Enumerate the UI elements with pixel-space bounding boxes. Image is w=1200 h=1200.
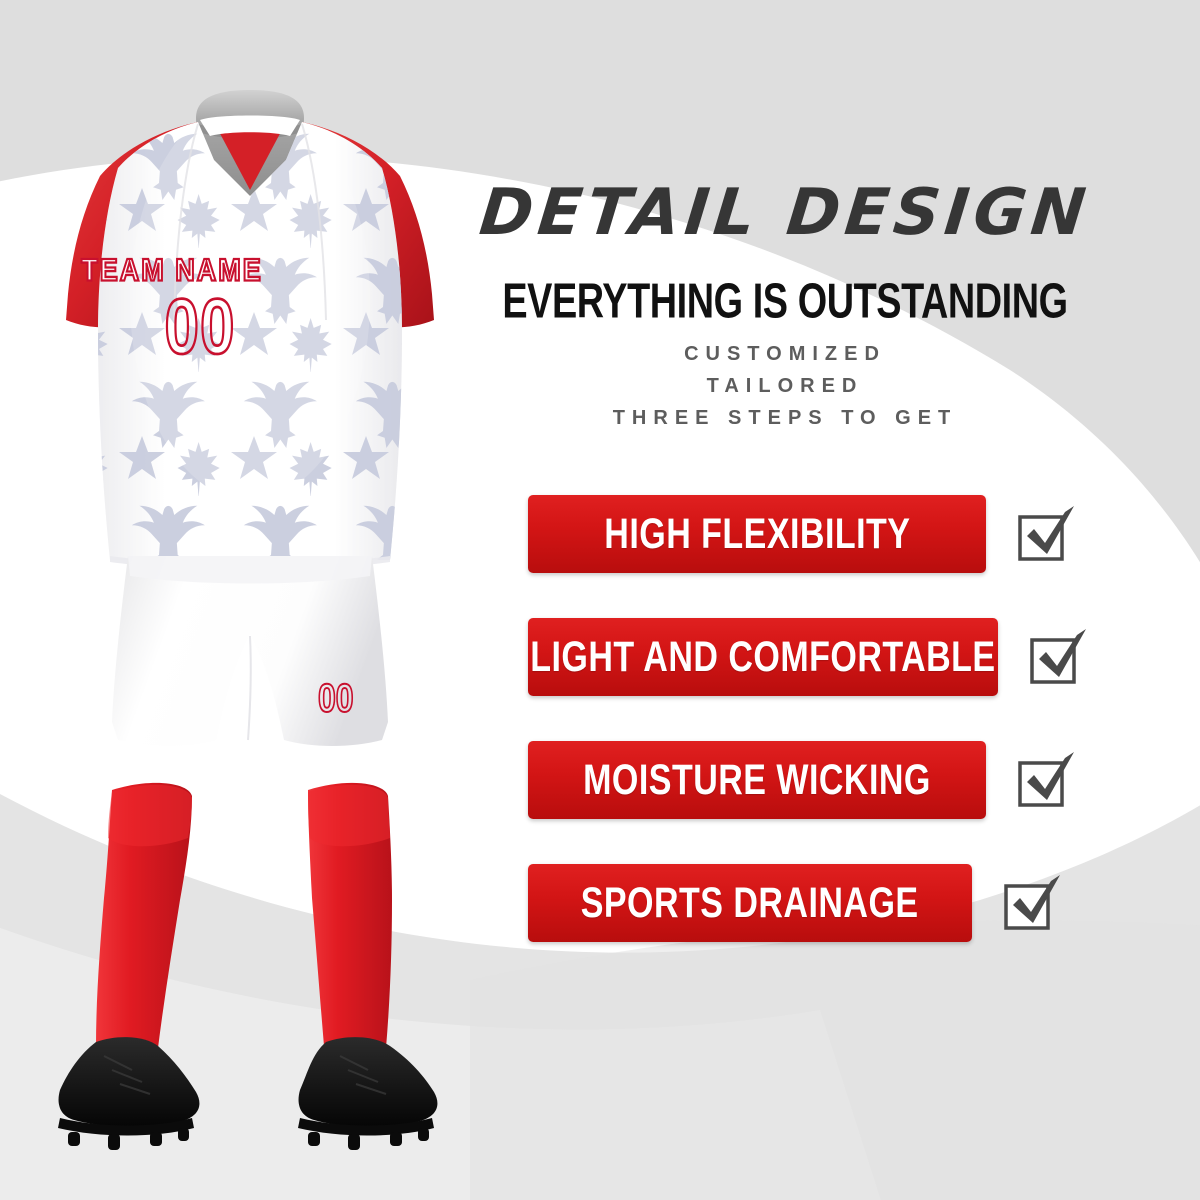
feature-label: HIGH FLEXIBILITY: [604, 510, 910, 559]
socks-graphic: [96, 783, 392, 1055]
checkmark-icon: [1002, 872, 1062, 934]
feature-banner: SPORTS DRAINAGE: [528, 864, 972, 942]
feature-label: LIGHT AND COMFORTABLE: [530, 633, 995, 682]
feature-banner: HIGH FLEXIBILITY: [528, 495, 986, 573]
uniform-illustration: [0, 0, 500, 1200]
tagline-tailored: TAILORED: [440, 375, 1130, 398]
checkmark-icon: [1016, 749, 1076, 811]
info-panel: DETAIL DESIGN EVERYTHING IS OUTSTANDING …: [440, 0, 1200, 1200]
jersey-number: 00: [0, 283, 450, 372]
feature-row: HIGH FLEXIBILITY: [528, 495, 1076, 573]
shorts-number: 00: [318, 675, 354, 721]
checkmark-icon: [1016, 503, 1076, 565]
feature-banner: MOISTURE WICKING: [528, 741, 986, 819]
tagline-three-steps: THREE STEPS TO GET: [440, 407, 1130, 430]
tagline-customized: CUSTOMIZED: [440, 343, 1130, 366]
cleats-graphic: [58, 1037, 437, 1150]
product-mockup: TEAM NAME 00 00: [0, 0, 500, 1200]
checkmark-icon: [1028, 626, 1088, 688]
feature-row: MOISTURE WICKING: [528, 741, 1076, 819]
feature-banner: LIGHT AND COMFORTABLE: [528, 618, 998, 696]
feature-row: SPORTS DRAINAGE: [528, 864, 1062, 942]
page-title: DETAIL DESIGN: [436, 176, 1134, 250]
feature-label: MOISTURE WICKING: [583, 756, 931, 805]
feature-row: LIGHT AND COMFORTABLE: [528, 618, 1088, 696]
product-marketing-banner: TEAM NAME 00 00 DETAIL DESIGN EVERYTHING…: [0, 0, 1200, 1200]
page-subtitle: EVERYTHING IS OUTSTANDING: [488, 274, 1081, 330]
feature-label: SPORTS DRAINAGE: [581, 879, 919, 928]
